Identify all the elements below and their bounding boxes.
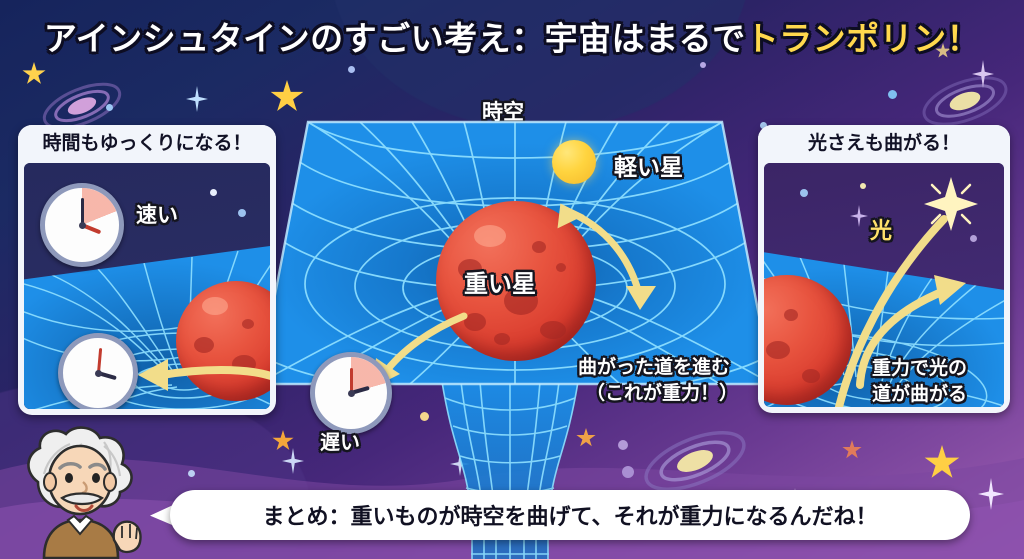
clock-pin xyxy=(79,222,86,229)
clock-minute-hand xyxy=(81,198,84,225)
light-star-sparkle xyxy=(924,177,978,231)
light-star-label: 軽い星 xyxy=(614,148,683,182)
page-title: アインシュタインのすごい考え：宇宙はまるでトランポリン！ xyxy=(0,12,1024,60)
planet-crater xyxy=(242,319,254,329)
right-panel[interactable]: 光さえも曲がる！ xyxy=(758,125,1010,413)
star-dot xyxy=(210,189,217,196)
star-dot xyxy=(622,466,634,478)
clock-icon xyxy=(310,352,392,434)
fast-label: 速い xyxy=(136,199,178,229)
galaxy-icon xyxy=(640,425,750,497)
left-panel[interactable]: 時間もゆっくりになる！ xyxy=(18,125,276,415)
slow-label: 遅い xyxy=(320,426,360,455)
curved-path-caption-line1: 曲がった道を進む xyxy=(578,352,730,379)
title-main: アインシュタインのすごい考え：宇宙はまるで xyxy=(44,19,746,58)
planet-crater xyxy=(532,241,546,253)
star-dot xyxy=(238,209,246,217)
right-caption-line2: 道が曲がる xyxy=(872,379,967,406)
planet-highlight xyxy=(202,297,228,315)
light-star-sun xyxy=(552,140,596,184)
planet-highlight xyxy=(474,225,506,247)
title-highlight: トランポリン！ xyxy=(746,19,981,58)
star-dot xyxy=(700,62,706,68)
right-panel-body: 光 重力で光の 道が曲がる xyxy=(764,163,1004,407)
clock-pin xyxy=(348,390,355,397)
galaxy-icon xyxy=(920,70,1010,132)
planet-crater xyxy=(194,337,214,353)
light-label: 光 xyxy=(870,213,892,245)
infographic-canvas: アインシュタインのすごい考え：宇宙はまるでトランポリン！ 時空 xyxy=(0,0,1024,559)
star-dot xyxy=(188,470,195,477)
star-dot xyxy=(348,66,355,73)
curved-path-caption-line2: （これが重力！） xyxy=(586,378,738,405)
planet-crater xyxy=(540,321,566,339)
left-panel-body: 速い xyxy=(24,163,270,409)
planet-crater xyxy=(494,333,510,345)
star-dot xyxy=(888,90,897,99)
summary-speech-bubble: まとめ：重いものが時空を曲げて、それが重力になるんだね！ xyxy=(170,490,970,540)
einstein-avatar xyxy=(8,424,158,559)
right-panel-header: 光さえも曲がる！ xyxy=(758,125,1010,161)
right-caption-line1: 重力で光の xyxy=(872,353,967,380)
orbit-arrow xyxy=(546,182,686,322)
clock-icon xyxy=(40,183,124,267)
sparkle-icon xyxy=(186,86,208,112)
clock-icon xyxy=(58,333,138,409)
left-arrow xyxy=(128,353,270,395)
left-panel-header: 時間もゆっくりになる！ xyxy=(18,125,276,161)
clock-pin xyxy=(95,370,102,377)
center-spacetime-scene: 時空 xyxy=(250,96,780,426)
summary-text: まとめ：重いものが時空を曲げて、それが重力になるんだね！ xyxy=(170,490,970,540)
heavy-star-label: 重い星 xyxy=(464,264,536,299)
star-dot xyxy=(106,104,113,111)
